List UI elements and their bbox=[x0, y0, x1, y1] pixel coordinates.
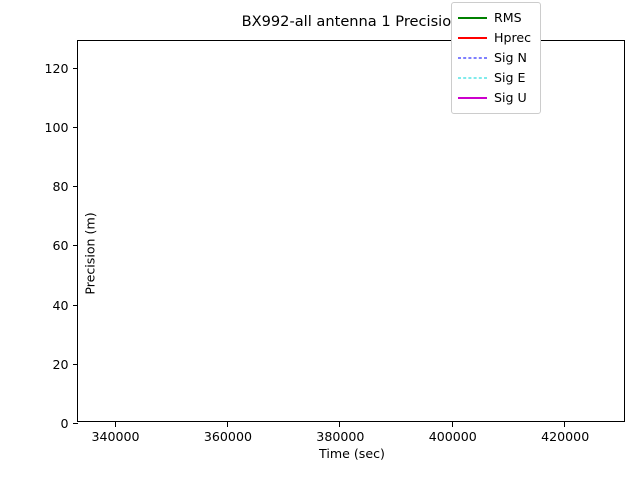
legend-item-sig-e[interactable]: Sig E bbox=[458, 68, 534, 88]
legend-label: Sig U bbox=[494, 90, 527, 106]
legend-swatch-icon bbox=[458, 92, 487, 104]
y-tick-label: 20 bbox=[52, 356, 68, 374]
legend-label: Hprec bbox=[494, 30, 531, 46]
plot-area: Precision (m) Time (sec) 020406080100120… bbox=[77, 40, 625, 422]
x-tick-label: 400000 bbox=[429, 428, 477, 446]
series-svg bbox=[78, 41, 624, 421]
x-tick-label: 420000 bbox=[541, 428, 589, 446]
y-tick-label: 120 bbox=[44, 60, 68, 78]
y-tick-label: 0 bbox=[60, 415, 68, 433]
legend-label: Sig E bbox=[494, 70, 525, 86]
x-tick-label: 340000 bbox=[91, 428, 139, 446]
legend-label: Sig N bbox=[494, 50, 527, 66]
legend-swatch-icon bbox=[458, 72, 487, 84]
y-tick-label: 40 bbox=[52, 297, 68, 315]
chart-title: BX992-all antenna 1 Precision bbox=[77, 13, 625, 31]
x-tick: 420000 bbox=[564, 421, 565, 427]
x-axis-label: Time (sec) bbox=[78, 446, 626, 461]
legend-item-hprec[interactable]: Hprec bbox=[458, 28, 534, 48]
y-tick: 0 bbox=[73, 423, 79, 424]
legend-item-sig-n[interactable]: Sig N bbox=[458, 48, 534, 68]
legend-item-sig-u[interactable]: Sig U bbox=[458, 88, 534, 108]
y-tick-label: 60 bbox=[52, 237, 68, 255]
x-tick: 400000 bbox=[452, 421, 453, 427]
legend-item-rms[interactable]: RMS bbox=[458, 8, 534, 28]
legend: RMSHprecSig NSig ESig U bbox=[451, 2, 541, 114]
x-tick-label: 360000 bbox=[204, 428, 252, 446]
x-tick: 360000 bbox=[227, 421, 228, 427]
legend-label: RMS bbox=[494, 10, 522, 26]
x-tick-label: 380000 bbox=[316, 428, 364, 446]
x-tick: 340000 bbox=[115, 421, 116, 427]
legend-swatch-icon bbox=[458, 12, 487, 24]
y-tick-label: 100 bbox=[44, 119, 68, 137]
figure-canvas: BX992-all antenna 1 Precision Precision … bbox=[0, 0, 640, 480]
legend-swatch-icon bbox=[458, 32, 487, 44]
y-tick-label: 80 bbox=[52, 178, 68, 196]
series-layer bbox=[78, 41, 624, 421]
x-tick: 380000 bbox=[339, 421, 340, 427]
legend-swatch-icon bbox=[458, 52, 487, 64]
